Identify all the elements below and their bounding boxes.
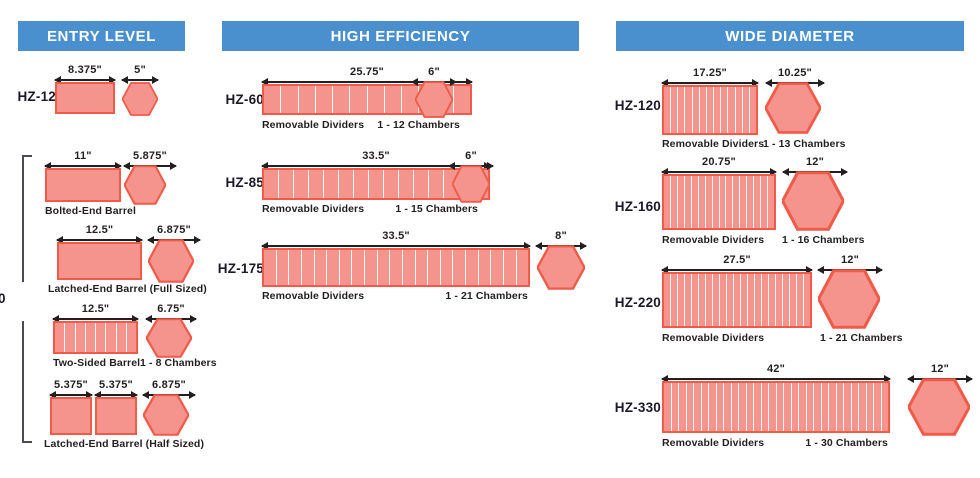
chamber-divider <box>491 250 504 285</box>
chamber-divider <box>792 383 800 431</box>
chamber-divider <box>354 170 369 198</box>
barrel-hz40-latched-full <box>57 242 142 280</box>
dimension-label: 5.875" <box>124 150 176 162</box>
chamber-divider <box>761 176 768 228</box>
chamber-dividers <box>664 176 774 228</box>
chamber-divider <box>713 274 720 326</box>
model-label-hz-330: HZ-330 <box>607 400 661 415</box>
model-label-hz-120: HZ-120 <box>607 98 661 113</box>
chamber-divider <box>664 176 671 228</box>
chamber-divider <box>814 383 822 431</box>
chamber-divider <box>289 250 302 285</box>
chamber-divider <box>428 250 441 285</box>
chamber-dividers <box>664 87 756 133</box>
hexagon-hz-120 <box>765 82 821 134</box>
chamber-divider <box>762 274 769 326</box>
dimension-label: 12.5" <box>57 224 142 236</box>
chamber-divider <box>127 323 136 352</box>
chamber-divider <box>385 86 402 113</box>
column-header-wide-diameter: WIDE DIAMETER <box>616 21 964 51</box>
chamber-divider <box>327 250 340 285</box>
dimension-arrow <box>53 318 138 320</box>
chamber-divider <box>874 383 882 431</box>
chamber-divider <box>769 383 777 431</box>
dimension-label: 8.375" <box>55 64 115 76</box>
chamber-divider <box>352 250 365 285</box>
chamber-divider <box>694 383 702 431</box>
chamber-divider <box>429 170 444 198</box>
dimension-label: 20.75" <box>662 156 776 168</box>
chamber-divider <box>453 250 466 285</box>
caption-hz85-right: 1 - 15 Chambers <box>368 203 478 215</box>
barrel-hz40-bolted-end <box>45 168 121 202</box>
dimension-label: 6.75" <box>146 303 196 315</box>
chamber-divider <box>762 383 770 431</box>
hexagon-hz-330 <box>908 378 970 436</box>
chamber-divider <box>504 250 517 285</box>
chamber-dividers <box>664 274 810 326</box>
chamber-divider <box>754 176 761 228</box>
hexagon-hz-160 <box>782 171 844 231</box>
barrel-hz40-two-sided <box>53 321 138 354</box>
chamber-divider <box>748 274 755 326</box>
chamber-divider <box>264 170 279 198</box>
chamber-divider <box>316 86 333 113</box>
caption-hz330-right: 1 - 30 Chambers <box>778 437 888 449</box>
chamber-dividers <box>264 250 528 285</box>
chamber-divider <box>706 176 713 228</box>
chamber-divider <box>302 250 315 285</box>
chamber-divider <box>368 86 385 113</box>
dimension-label: 11" <box>45 150 121 162</box>
dimension-label: 12.5" <box>53 303 138 315</box>
caption-hz40-r3-left: Two-Sided Barrel <box>53 357 140 369</box>
model-label-hz-60: HZ-60 <box>216 92 264 107</box>
chamber-divider <box>699 176 706 228</box>
chamber-divider <box>678 87 685 133</box>
caption-hz120-left: Removable Dividers <box>662 138 764 150</box>
caption-hz120-chambers: 1 - 13 Chambers <box>763 138 846 150</box>
chamber-divider <box>339 170 354 198</box>
caption-hz40-r2-left: Latched-End Barrel (Full Sized) <box>48 283 207 295</box>
caption-hz175-right: 1 - 21 Chambers <box>418 290 528 302</box>
chamber-divider <box>333 86 350 113</box>
hexagon-hz40-r3 <box>146 318 192 358</box>
model-label-hz-220: HZ-220 <box>607 295 661 310</box>
chamber-divider <box>664 87 671 133</box>
chamber-divider <box>679 383 687 431</box>
chamber-divider <box>776 274 783 326</box>
chamber-divider <box>754 383 762 431</box>
dimension-arrow <box>45 165 121 167</box>
bracket-bar-upper <box>22 155 24 282</box>
chamber-divider <box>727 274 734 326</box>
barrel-hz40-half-b <box>95 397 137 435</box>
chamber-divider <box>717 383 725 431</box>
chamber-divider <box>852 383 860 431</box>
chamber-divider <box>324 170 339 198</box>
hexagon-hz40-r1 <box>124 165 166 205</box>
model-label-hz-85: HZ-85 <box>216 175 264 190</box>
chamber-divider <box>747 383 755 431</box>
dimension-arrow <box>662 82 758 84</box>
chamber-divider <box>728 87 735 133</box>
group-label-hz-40: HZ-40 <box>0 291 6 306</box>
chamber-divider <box>264 250 277 285</box>
dimension-label: 27.5" <box>662 254 812 266</box>
chamber-divider <box>837 383 845 431</box>
chamber-divider <box>403 250 416 285</box>
chamber-divider <box>790 274 797 326</box>
hexagon-hz-85 <box>452 165 490 203</box>
chamber-divider <box>740 176 747 228</box>
chamber-divider <box>743 87 750 133</box>
caption-hz40-r4-left: Latched-End Barrel (Half Sized) <box>44 438 204 450</box>
caption-hz220-chambers: 1 - 21 Chambers <box>820 332 903 344</box>
model-label-hz-175: HZ-175 <box>210 261 264 276</box>
dimension-label: 33.5" <box>262 230 530 242</box>
chamber-divider <box>517 250 529 285</box>
chamber-divider <box>466 250 479 285</box>
caption-hz40-r3-chambers: 1 - 8 Chambers <box>140 357 217 369</box>
barrel-hz-12 <box>55 82 115 114</box>
caption-hz60-left: Removable Dividers <box>262 119 364 131</box>
chamber-divider <box>299 86 316 113</box>
chamber-divider <box>702 383 710 431</box>
chamber-divider <box>687 383 695 431</box>
hexagon-hz-60 <box>415 81 453 118</box>
chamber-divider <box>279 170 294 198</box>
chamber-divider <box>709 383 717 431</box>
dimension-label: 5.375" <box>50 379 92 391</box>
chamber-divider <box>106 323 116 352</box>
hexagon-hz40-r4 <box>143 394 189 436</box>
bracket-bar-lower <box>22 321 24 443</box>
dimension-arrow <box>262 245 530 247</box>
chamber-divider <box>369 170 384 198</box>
chamber-divider <box>76 323 86 352</box>
chamber-divider <box>672 383 680 431</box>
dimension-arrow <box>50 394 92 396</box>
chamber-divider <box>769 274 776 326</box>
chamber-divider <box>755 274 762 326</box>
column-header-high-efficiency: HIGH EFFICIENCY <box>222 21 579 51</box>
dimension-arrow <box>122 79 158 81</box>
chamber-divider <box>732 383 740 431</box>
chamber-divider <box>340 250 353 285</box>
chamber-divider <box>829 383 837 431</box>
chamber-divider <box>315 250 328 285</box>
chamber-divider <box>736 87 743 133</box>
chamber-divider <box>685 87 692 133</box>
dimension-label: 6.875" <box>148 224 200 236</box>
barrel-hz-220 <box>662 272 812 328</box>
chamber-divider <box>685 274 692 326</box>
column-header-entry-level: ENTRY LEVEL <box>18 21 185 51</box>
chamber-divider <box>264 86 281 113</box>
dimension-label: 6" <box>449 150 493 162</box>
chamber-divider <box>797 274 804 326</box>
chamber-divider <box>741 274 748 326</box>
hexagon-hz40-r2 <box>148 239 194 283</box>
chamber-divider <box>441 250 454 285</box>
barrel-hz-120 <box>662 85 758 135</box>
dimension-label: 8" <box>536 230 586 242</box>
chamber-divider <box>726 176 733 228</box>
chamber-divider <box>768 176 774 228</box>
chamber-divider <box>867 383 875 431</box>
chamber-divider <box>117 323 127 352</box>
dimension-label: 5" <box>122 64 158 76</box>
chamber-divider <box>747 176 754 228</box>
group-bracket-hz-40: HZ-40 <box>16 155 36 443</box>
chamber-divider <box>384 170 399 198</box>
chamber-divider <box>664 274 671 326</box>
barrel-hz40-half-a <box>50 397 92 435</box>
hexagon-hz-175 <box>537 245 585 290</box>
dimension-arrow <box>662 171 776 173</box>
barrel-hz-175 <box>262 248 530 287</box>
chamber-divider <box>86 323 96 352</box>
chamber-divider <box>692 274 699 326</box>
chamber-divider <box>707 87 714 133</box>
chamber-divider <box>309 170 324 198</box>
chamber-divider <box>678 176 685 228</box>
specification-diagram: ENTRY LEVEL HZ-12 8.375" 5" HZ-40 11" Bo… <box>0 0 980 478</box>
dimension-label: 6" <box>412 66 456 78</box>
chamber-divider <box>671 87 678 133</box>
chamber-divider <box>399 170 414 198</box>
chamber-divider <box>671 176 678 228</box>
dimension-label: 5.375" <box>95 379 137 391</box>
chamber-divider <box>734 274 741 326</box>
caption-hz160-left: Removable Dividers <box>662 234 764 246</box>
chamber-divider <box>783 274 790 326</box>
chamber-divider <box>807 383 815 431</box>
dimension-label: 42" <box>662 363 890 375</box>
chamber-divider <box>281 86 298 113</box>
hexagon-hz-12 <box>122 82 158 116</box>
chamber-divider <box>859 383 867 431</box>
chamber-divider <box>714 87 721 133</box>
dimension-arrow <box>662 269 812 271</box>
chamber-divider <box>713 176 720 228</box>
caption-hz40-r1-left: Bolted-End Barrel <box>45 205 136 217</box>
chamber-divider <box>365 250 378 285</box>
chamber-divider <box>277 250 290 285</box>
dimension-label: 12" <box>783 156 847 168</box>
chamber-divider <box>721 87 728 133</box>
chamber-divider <box>733 176 740 228</box>
chamber-divider <box>55 323 65 352</box>
chamber-divider <box>822 383 830 431</box>
chamber-divider <box>678 274 685 326</box>
dimension-arrow <box>95 394 137 396</box>
chamber-divider <box>416 250 429 285</box>
chamber-divider <box>294 170 309 198</box>
model-label-hz-160: HZ-160 <box>607 199 661 214</box>
dimension-arrow <box>662 378 890 380</box>
chamber-divider <box>784 383 792 431</box>
model-label-hz-12: HZ-12 <box>8 89 56 104</box>
dimension-label: 17.25" <box>662 67 758 79</box>
dimension-arrow <box>55 79 115 81</box>
chamber-divider <box>685 176 692 228</box>
dimension-label: 6.875" <box>143 379 195 391</box>
dimension-arrow <box>57 239 142 241</box>
chamber-divider <box>720 274 727 326</box>
chamber-divider <box>699 274 706 326</box>
chamber-divider <box>664 383 672 431</box>
chamber-divider <box>804 274 810 326</box>
chamber-divider <box>882 383 889 431</box>
hexagon-hz-220 <box>818 269 880 329</box>
chamber-divider <box>799 383 807 431</box>
chamber-divider <box>750 87 756 133</box>
chamber-divider <box>671 274 678 326</box>
caption-hz330-left: Removable Dividers <box>662 437 764 449</box>
chamber-divider <box>777 383 785 431</box>
chamber-divider <box>479 250 492 285</box>
caption-hz160-chambers: 1 - 16 Chambers <box>782 234 865 246</box>
barrel-hz-160 <box>662 174 776 230</box>
chamber-dividers <box>55 323 136 352</box>
dimension-label: 12" <box>908 363 972 375</box>
chamber-divider <box>692 176 699 228</box>
chamber-divider <box>720 176 727 228</box>
chamber-divider <box>65 323 75 352</box>
chamber-divider <box>700 87 707 133</box>
chamber-divider <box>378 250 391 285</box>
chamber-divider <box>454 86 470 113</box>
dimension-label: 12" <box>818 254 882 266</box>
chamber-divider <box>706 274 713 326</box>
caption-hz60-right: 1 - 12 Chambers <box>350 119 460 131</box>
barrel-hz-330 <box>662 381 890 433</box>
chamber-divider <box>414 170 429 198</box>
chamber-divider <box>390 250 403 285</box>
chamber-dividers <box>664 383 888 431</box>
chamber-divider <box>693 87 700 133</box>
chamber-divider <box>350 86 367 113</box>
chamber-divider <box>739 383 747 431</box>
caption-hz175-left: Removable Dividers <box>262 290 364 302</box>
bracket-tick-bottom <box>22 441 32 443</box>
dimension-label: 10.25" <box>766 67 824 79</box>
caption-hz85-left: Removable Dividers <box>262 203 364 215</box>
caption-hz220-left: Removable Dividers <box>662 332 764 344</box>
chamber-divider <box>724 383 732 431</box>
chamber-divider <box>96 323 106 352</box>
chamber-divider <box>844 383 852 431</box>
